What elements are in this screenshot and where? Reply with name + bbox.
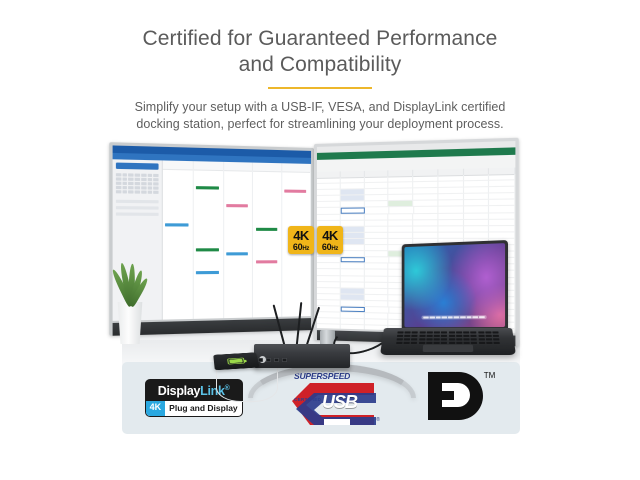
- laptop-key: [478, 338, 484, 340]
- spreadsheet-cell: [438, 201, 463, 207]
- spreadsheet-cell: [340, 270, 364, 275]
- badge-4k-60hz: 4K 60Hz: [288, 226, 314, 254]
- dock-port: [266, 358, 271, 362]
- spreadsheet-cell: [340, 177, 364, 183]
- spreadsheet-cell: [317, 294, 341, 300]
- spreadsheet-cell: [317, 306, 340, 312]
- calendar-event: [196, 271, 219, 274]
- header: Certified for Guaranteed Performance and…: [0, 26, 640, 133]
- displayport-tm-mark: TM: [484, 371, 496, 380]
- laptop-dock-bar: [422, 315, 486, 319]
- spreadsheet-cell: [364, 189, 388, 195]
- spreadsheet-cell: [389, 220, 414, 225]
- spreadsheet-cell: [389, 195, 414, 201]
- spreadsheet-cell: [413, 195, 438, 201]
- spreadsheet-cell: [464, 187, 490, 193]
- spreadsheet-cell: [464, 232, 490, 237]
- title-divider: [268, 87, 372, 89]
- laptop-key: [441, 338, 447, 340]
- laptop-key: [449, 331, 455, 333]
- spreadsheet-cell: [413, 213, 438, 218]
- page-title: Certified for Guaranteed Performance and…: [0, 26, 640, 78]
- laptop-key: [471, 341, 477, 343]
- laptop-key: [449, 341, 455, 343]
- spreadsheet-cell: [438, 232, 463, 237]
- calendar-event: [226, 204, 248, 207]
- spreadsheet-cell: [317, 288, 341, 293]
- calendar-event: [196, 248, 219, 251]
- spreadsheet-cell: [389, 201, 414, 207]
- spreadsheet-cell: [340, 282, 364, 287]
- spreadsheet-cell: [340, 189, 364, 195]
- calendar-event: [165, 223, 188, 226]
- displaylink-word-display: Display: [158, 384, 200, 398]
- calendar-day-column: [253, 171, 282, 318]
- laptop-key: [463, 335, 469, 337]
- laptop-key: [404, 341, 410, 343]
- laptop-key: [441, 341, 447, 343]
- page-title-line-1: Certified for Guaranteed Performance: [143, 27, 498, 50]
- laptop-key: [427, 331, 433, 333]
- spreadsheet-cell: [340, 233, 364, 238]
- spreadsheet-cell: [438, 175, 463, 181]
- spreadsheet-cell: [489, 180, 515, 186]
- laptop-key: [471, 335, 477, 337]
- laptop-key: [478, 341, 484, 343]
- displaylink-plug-and-display-text: Plug and Display: [165, 401, 241, 415]
- spreadsheet-cell: [364, 233, 388, 238]
- laptop-keyboard: [396, 331, 500, 344]
- spreadsheet-cell: [340, 251, 364, 256]
- spreadsheet-cell: [317, 208, 340, 213]
- calendar-mini-month: [116, 173, 159, 194]
- page-subtitle: Simplify your setup with a USB-IF, VESA,…: [0, 99, 640, 133]
- calendar-day-column: [224, 170, 254, 318]
- calendar-event: [256, 260, 278, 263]
- laptop-key: [456, 331, 462, 333]
- spreadsheet-cell: [438, 226, 463, 231]
- spreadsheet-cell: [413, 201, 438, 207]
- laptop-key: [456, 338, 462, 340]
- spreadsheet-cell: [413, 182, 438, 188]
- spreadsheet-cell: [317, 269, 341, 274]
- laptop-key: [493, 341, 500, 343]
- calendar-day-column: [163, 169, 194, 320]
- laptop-key: [441, 331, 447, 333]
- spreadsheet-cell: [438, 188, 463, 194]
- spreadsheet-cell: [389, 207, 413, 212]
- spreadsheet-cell: [413, 232, 438, 237]
- laptop-key: [449, 335, 455, 337]
- calendar-event: [196, 186, 219, 189]
- laptop-key: [411, 338, 417, 340]
- spreadsheet-cell: [489, 219, 515, 225]
- page-title-line-2: and Compatibility: [0, 52, 640, 78]
- laptop-key: [441, 335, 447, 337]
- spreadsheet-cell: [438, 181, 463, 187]
- spreadsheet-cell: [340, 202, 364, 207]
- spreadsheet-cell: [364, 220, 388, 225]
- laptop-key: [478, 331, 484, 333]
- page-subtitle-line-2: docking station, perfect for streamlinin…: [0, 116, 640, 133]
- calendar-event: [226, 252, 248, 255]
- laptop-key: [434, 335, 440, 337]
- calendar-event: [256, 228, 278, 231]
- spreadsheet-cell: [414, 207, 439, 213]
- spreadsheet-cell: [389, 233, 414, 238]
- spreadsheet-cell: [340, 263, 364, 268]
- spreadsheet-cell: [364, 183, 388, 189]
- laptop-key: [396, 341, 403, 343]
- spreadsheet-cell: [464, 200, 490, 206]
- spreadsheet-cell: [340, 294, 364, 300]
- badge-resolution: 4K: [322, 229, 338, 242]
- laptop-key-row: [397, 338, 500, 340]
- spreadsheet-cell: [489, 187, 515, 193]
- spreadsheet-cell: [317, 318, 341, 324]
- badge-refresh: 60Hz: [293, 243, 309, 252]
- laptop-key: [493, 335, 499, 337]
- spreadsheet-cell: [489, 200, 515, 206]
- spreadsheet-cell: [340, 300, 364, 306]
- spreadsheet-cell: [365, 208, 389, 213]
- spreadsheet-cell: [317, 282, 341, 287]
- laptop-key: [493, 338, 499, 340]
- spreadsheet-cell: [317, 257, 340, 262]
- laptop-key-row: [397, 335, 499, 337]
- resolution-badges: 4K 60Hz 4K 60Hz: [288, 226, 343, 254]
- displayport-logo: TM: [425, 369, 497, 427]
- badge-resolution: 4K: [293, 229, 309, 242]
- laptop-trackpad: [423, 345, 474, 352]
- spreadsheet-cell: [364, 214, 388, 219]
- spreadsheet-cell: [340, 208, 365, 213]
- spreadsheet-cell: [340, 257, 365, 262]
- spreadsheet-cell: [340, 214, 364, 219]
- spreadsheet-cell: [317, 202, 341, 207]
- spreadsheet-cell: [340, 288, 364, 294]
- spreadsheet-cell: [317, 263, 341, 268]
- laptop-key: [478, 335, 484, 337]
- spreadsheet-cell: [464, 226, 490, 231]
- laptop-key: [412, 331, 418, 333]
- spreadsheet-cell: [317, 220, 341, 225]
- spreadsheet-cell: [317, 300, 341, 306]
- laptop-key: [434, 341, 440, 343]
- spreadsheet-cell: [340, 306, 365, 312]
- calendar-day-column: [194, 169, 224, 318]
- spreadsheet-cell: [489, 213, 515, 219]
- laptop-key: [486, 338, 492, 340]
- laptop: [384, 240, 512, 368]
- spreadsheet-cell: [364, 195, 388, 201]
- spreadsheet-cell: [438, 213, 463, 219]
- spreadsheet-cell: [340, 245, 364, 250]
- spreadsheet-cell: [464, 207, 490, 213]
- usb-registered-mark: ®: [376, 417, 380, 423]
- laptop-key: [397, 338, 403, 340]
- laptop-key: [463, 331, 469, 333]
- spreadsheet-cell: [340, 239, 364, 244]
- spreadsheet-cell: [439, 207, 464, 213]
- spreadsheet-cell: [340, 196, 364, 201]
- spreadsheet-cell: [340, 227, 364, 232]
- laptop-key: [456, 335, 462, 337]
- spreadsheet-cell: [389, 189, 414, 195]
- dock-port: [282, 358, 287, 362]
- spreadsheet-cell: [489, 174, 515, 180]
- laptop-key: [434, 338, 440, 340]
- spreadsheet-cell: [389, 214, 414, 219]
- spreadsheet-cell: [340, 276, 364, 281]
- laptop-key-row: [397, 331, 498, 333]
- displayport-d-glyph: [425, 369, 487, 423]
- laptop-wallpaper: [404, 243, 505, 327]
- spreadsheet-cell: [489, 193, 515, 199]
- laptop-key: [449, 338, 455, 340]
- smartphone: [213, 352, 259, 370]
- dock-port-strip: [258, 357, 346, 363]
- product-feature-slide: Certified for Guaranteed Performance and…: [0, 0, 640, 480]
- spreadsheet-cell: [317, 184, 341, 190]
- laptop-key: [492, 331, 498, 333]
- laptop-key: [426, 338, 432, 340]
- spreadsheet-cell: [317, 190, 341, 195]
- laptop-key: [404, 338, 410, 340]
- calendar-event: [285, 190, 307, 193]
- spreadsheet-cell: [340, 220, 364, 225]
- product-photo: 4K 60Hz 4K 60Hz: [96, 144, 520, 436]
- spreadsheet-cell: [413, 220, 438, 225]
- laptop-key: [397, 331, 403, 333]
- laptop-base: [380, 328, 516, 355]
- spreadsheet-cell: [364, 226, 388, 231]
- displaylink-subbadge: 4K Plug and Display: [145, 401, 243, 416]
- plant-pot: [116, 302, 144, 344]
- laptop-key: [419, 335, 425, 337]
- spreadsheet-cell: [413, 176, 438, 182]
- calendar-new-event-chip: [116, 163, 159, 170]
- laptop-key: [470, 331, 476, 333]
- spreadsheet-cell: [317, 177, 341, 183]
- displaylink-4k-tag: 4K: [146, 401, 166, 415]
- spreadsheet-cell: [413, 226, 438, 231]
- laptop-key: [463, 338, 469, 340]
- laptop-key: [471, 338, 477, 340]
- laptop-key-row: [396, 341, 500, 343]
- laptop-key: [485, 331, 491, 333]
- laptop-key: [412, 335, 418, 337]
- spreadsheet-cell: [389, 182, 414, 188]
- spreadsheet-cell: [340, 183, 364, 189]
- laptop-key: [434, 331, 440, 333]
- spreadsheet-cell: [317, 276, 341, 281]
- badge-refresh: 60Hz: [322, 243, 338, 252]
- laptop-key: [485, 335, 491, 337]
- spreadsheet-cell: [413, 188, 438, 194]
- spreadsheet-cell: [317, 214, 341, 219]
- spreadsheet-cell: [389, 226, 414, 231]
- spreadsheet-cell: [464, 219, 490, 225]
- laptop-key: [426, 341, 432, 343]
- laptop-key: [405, 331, 411, 333]
- laptop-key: [419, 331, 425, 333]
- spreadsheet-cell: [489, 226, 515, 231]
- page-subtitle-line-1: Simplify your setup with a USB-IF, VESA,…: [135, 100, 506, 114]
- laptop-key: [404, 335, 410, 337]
- badge-4k-60hz: 4K 60Hz: [317, 226, 343, 254]
- spreadsheet-cell: [489, 206, 515, 212]
- dock-port: [274, 358, 279, 362]
- spreadsheet-cell: [389, 176, 414, 182]
- laptop-key: [397, 335, 403, 337]
- calendar-list: [116, 200, 159, 216]
- spreadsheet-cell: [464, 194, 490, 200]
- spreadsheet-cell: [464, 181, 490, 187]
- charging-cable: [216, 366, 278, 402]
- laptop-key: [464, 341, 470, 343]
- laptop-lid: [402, 240, 508, 332]
- desk-plant: [104, 248, 156, 344]
- laptop-key: [419, 341, 425, 343]
- laptop-key: [456, 341, 462, 343]
- laptop-key: [419, 338, 425, 340]
- spreadsheet-cell: [489, 232, 515, 237]
- spreadsheet-cell: [317, 312, 341, 318]
- docking-station: [254, 344, 350, 368]
- dock-port: [258, 358, 263, 362]
- spreadsheet-cell: [438, 194, 463, 200]
- spreadsheet-cell: [438, 220, 463, 225]
- spreadsheet-cell: [364, 177, 388, 183]
- laptop-key: [426, 335, 432, 337]
- spreadsheet-cell: [464, 174, 490, 180]
- spreadsheet-cell: [464, 213, 490, 219]
- battery-charging-icon: [227, 358, 245, 365]
- spreadsheet-cell: [340, 313, 364, 319]
- spreadsheet-cell: [317, 196, 341, 201]
- laptop-key: [411, 341, 417, 343]
- spreadsheet-cell: [364, 201, 388, 206]
- laptop-key: [486, 341, 492, 343]
